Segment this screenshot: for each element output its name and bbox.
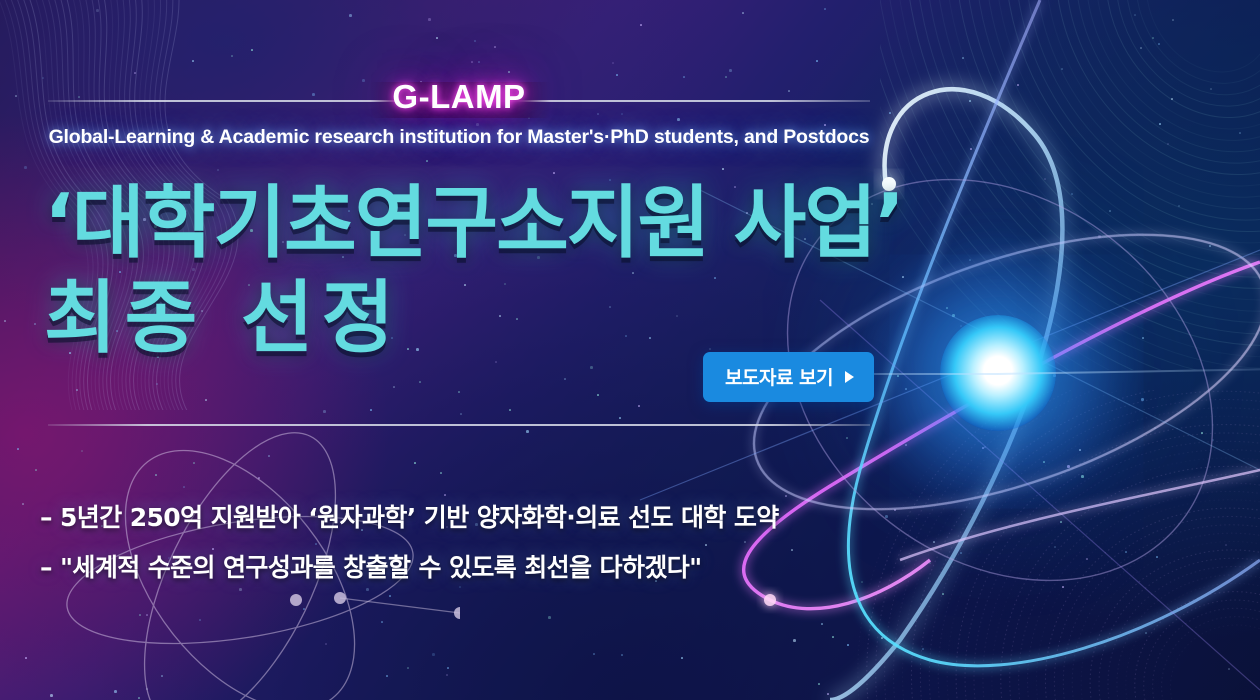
- play-triangle-icon: [845, 371, 854, 383]
- headline-line-1: ‘대학기초연구소지원 사업’: [44, 184, 924, 263]
- brand-subtitle: Global-Learning & Academic research inst…: [0, 126, 918, 149]
- divider-middle: [48, 424, 870, 426]
- headline-line-2: 최종 선정: [44, 279, 924, 358]
- headline: ‘대학기초연구소지원 사업’ 최종 선정: [44, 184, 924, 358]
- press-release-button[interactable]: 보도자료 보기: [703, 352, 874, 402]
- bullet-list: – 5년간 250억 지원받아 ‘원자과학’ 기반 양자화학·의료 선도 대학 …: [40, 498, 920, 598]
- brand-title: G-LAMP: [0, 78, 918, 116]
- bullet-item: – 5년간 250억 지원받아 ‘원자과학’ 기반 양자화학·의료 선도 대학 …: [40, 498, 920, 534]
- bullet-item: – "세계적 수준의 연구성과를 창출할 수 있도록 최선을 다하겠다": [40, 548, 920, 584]
- promo-banner: G-LAMP Global-Learning & Academic resear…: [0, 0, 1260, 700]
- press-release-button-label: 보도자료 보기: [725, 363, 833, 390]
